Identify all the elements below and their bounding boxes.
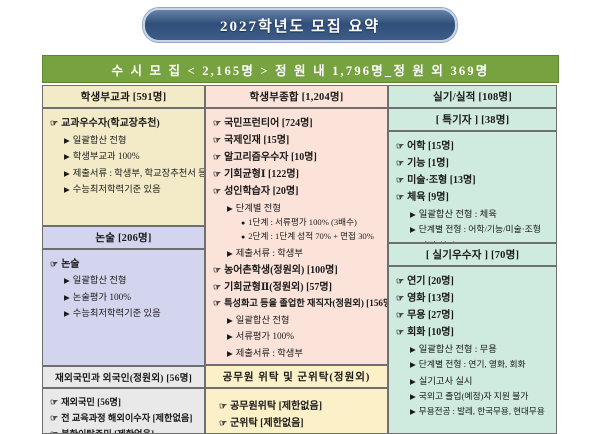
special-talent-body: ☞ 어학 [15명] ☞ 기능 [1명] ☞ 미술·조형 [13명] ☞ 체육 … xyxy=(388,131,557,243)
pointer-icon: ☞ xyxy=(213,135,221,146)
list-item-label: 학생부교과 100% xyxy=(73,148,140,162)
pointer-icon: ☞ xyxy=(396,192,404,203)
subheader-special-talent: [ 특기자 ] [38명] xyxy=(388,108,557,131)
list-item-label: 알고리즘우수자 [10명] xyxy=(224,148,317,163)
list-item: ▶ 수능최저학력기준 있음 xyxy=(64,305,199,319)
list-item-label: 무용 [27명] xyxy=(407,306,454,321)
triangle-icon: ▶ xyxy=(227,349,233,358)
pointer-icon: ☞ xyxy=(50,413,58,424)
list-item-label: 농어촌학생(정원외) [100명] xyxy=(224,261,338,276)
list-item-label: 미술·조형 [13명] xyxy=(407,171,476,186)
list-item: ▶ 일괄합산 전형 : 체육 xyxy=(410,206,551,220)
list-item-label: 기회균형Ⅱ(정원외) [57명] xyxy=(224,278,332,293)
list-item: ☞ 기회균형Ⅱ(정원외) [57명] xyxy=(213,278,382,293)
list-item-label: 성인학습자 [20명] xyxy=(224,182,298,197)
list-item: ▶ 수능최저학력기준 있음 xyxy=(64,181,199,195)
list-item-label: 군위탁 [제한없음] xyxy=(230,414,304,429)
list-item: ▶ 일괄합산 전형 xyxy=(227,312,382,326)
triangle-icon: ▶ xyxy=(410,360,416,369)
list-item: ☞ 기능 [1명] xyxy=(396,154,551,169)
list-item-label: 어학 [15명] xyxy=(407,137,454,152)
page-title: 2027학년도 모집 요약 xyxy=(220,15,380,36)
pointer-icon: ☞ xyxy=(219,418,227,429)
triangle-icon: ▶ xyxy=(410,377,416,386)
list-item-label: 단계별 전형 : 연기, 영화, 회화 xyxy=(419,357,526,370)
pointer-icon: ☞ xyxy=(213,169,221,180)
list-item: ☞ 무용 [27명] xyxy=(396,306,551,321)
list-item: ▶ 단계별 전형 : 연기, 영화, 회화 xyxy=(410,357,551,370)
list-item-label: 단계별 전형 xyxy=(236,200,281,214)
pointer-icon: ☞ xyxy=(50,259,58,270)
pointer-icon: ☞ xyxy=(213,298,221,309)
practical-excellence-body: ☞ 연기 [20명] ☞ 영화 [13명] ☞ 무용 [27명] ☞ 회화 [1… xyxy=(388,266,557,434)
list-item-label: 연기 [20명] xyxy=(407,272,454,287)
list-item-label: 국제인재 [15명] xyxy=(224,131,289,146)
pointer-icon: ☞ xyxy=(213,186,221,197)
entrusted-list: ☞ 공무원위탁 [제한없음] ☞ 군위탁 [제한없음] xyxy=(211,397,382,429)
column-header-subject-record: 학생부교과 [591명] xyxy=(42,85,205,108)
list-item: ▶ 제출서류 : 학생부, 학교장추천서 등 xyxy=(64,165,199,179)
column-header-overseas: 재외국민과 외국인(정원외) [56명] xyxy=(42,366,205,388)
triangle-icon: ▶ xyxy=(64,136,70,145)
triangle-icon: ▶ xyxy=(64,293,70,302)
list-item: ☞ 논술 xyxy=(50,255,199,270)
triangle-icon: ▶ xyxy=(64,185,70,194)
pointer-icon: ☞ xyxy=(396,141,404,152)
triangle-icon: ▶ xyxy=(227,204,233,213)
list-item: ● 2단계 : 1단계 성적 70% + 면접 30% xyxy=(241,230,382,242)
triangle-icon: ▶ xyxy=(410,392,416,401)
triangle-icon: ▶ xyxy=(410,345,416,354)
list-item-label: 수능최저학력기준 있음 xyxy=(73,181,161,195)
list-item: ☞ 회화 [10명] xyxy=(396,323,551,338)
list-item: ▶ 실기고사 실시 xyxy=(410,373,551,387)
pointer-icon: ☞ xyxy=(396,276,404,287)
list-item: ▶ 서류평가 100% xyxy=(227,328,382,342)
pointer-icon: ☞ xyxy=(50,397,58,408)
dot-icon: ● xyxy=(241,219,245,227)
essay-body: ☞ 논술 ▶ 일괄합산 전형 ▶ 논술평가 100% ▶ 수능최저학력기준 있음 xyxy=(42,249,205,367)
list-item: ☞ 체육 [9명] xyxy=(396,188,551,203)
pointer-icon: ☞ xyxy=(50,118,58,129)
list-item-label: 무용전공 : 발레, 한국무용, 현대무용 xyxy=(419,405,545,417)
pointer-icon: ☞ xyxy=(50,429,58,434)
list-item: ☞ 전 교육과정 해외이수자 [제한없음] xyxy=(50,410,199,424)
dot-icon: ● xyxy=(241,233,245,241)
pointer-icon: ☞ xyxy=(213,282,221,293)
list-item-label: 일괄합산 전형 : 무용 xyxy=(419,341,497,355)
pointer-icon: ☞ xyxy=(213,152,221,163)
list-item: ☞ 미술·조형 [13명] xyxy=(396,171,551,186)
list-item-label: 단계별 전형 : 어학/기능/미술·조형 xyxy=(419,222,541,235)
column-subject-record: 학생부교과 [591명] ☞ 교과우수자(학교장추천) ▶ 일괄합산 전형 ▶ … xyxy=(42,85,205,434)
list-item-label: 국외고 졸업(예정)자 지원 불가 xyxy=(419,389,529,402)
triangle-icon: ▶ xyxy=(410,225,416,234)
list-item-label: 회화 [10명] xyxy=(407,323,454,338)
triangle-icon: ▶ xyxy=(410,210,416,219)
column-header-comprehensive-record: 학생부종합 [1,204명] xyxy=(205,85,388,108)
list-item: ☞ 재외국민 [56명] xyxy=(50,394,199,408)
pointer-icon: ☞ xyxy=(213,118,221,129)
pointer-icon: ☞ xyxy=(396,293,404,304)
list-item: ● 1단계 : 서류평가 100% (3배수) xyxy=(241,216,382,228)
list-item: ▶ 학생부교과 100% xyxy=(64,148,199,162)
list-item-label: 제출서류 : 학생부 xyxy=(236,345,303,359)
column-practical: 실기/실적 [108명] [ 특기자 ] [38명] ☞ 어학 [15명] ☞ … xyxy=(388,85,557,434)
pointer-icon: ☞ xyxy=(396,310,404,321)
list-item-label: 일괄합산 전형 xyxy=(236,312,290,326)
list-item: ▶ 국외고 졸업(예정)자 지원 불가 xyxy=(410,389,551,402)
list-item: ▶ 단계별 전형 xyxy=(227,200,382,214)
list-item: ☞ 국제인재 [15명] xyxy=(213,131,382,146)
list-item: ☞ 성인학습자 [20명] xyxy=(213,182,382,197)
list-item-label: 기회균형Ⅰ [122명] xyxy=(224,165,299,180)
summary-band-text: 수 시 모 집 < 2,165명 > 정 원 내 1,796명_정 원 외 36… xyxy=(111,60,489,79)
list-item-label: 체육 [9명] xyxy=(407,188,449,203)
pointer-icon: ☞ xyxy=(396,175,404,186)
subject-excellence-list: ☞ 교과우수자(학교장추천) ▶ 일괄합산 전형 ▶ 학생부교과 100% ▶ … xyxy=(48,114,199,195)
list-item: ☞ 교과우수자(학교장추천) xyxy=(50,114,199,129)
list-item-label: 교과우수자(학교장추천) xyxy=(61,114,160,129)
list-item: ☞ 군위탁 [제한없음] xyxy=(219,414,382,429)
list-item: ☞ 북한이탈주민 [제한없음] xyxy=(50,426,199,434)
list-item: ☞ 농어촌학생(정원외) [100명] xyxy=(213,261,382,276)
entrusted-body: ☞ 공무원위탁 [제한없음] ☞ 군위탁 [제한없음] xyxy=(205,388,388,434)
list-item-label: 서류평가 100% xyxy=(236,328,294,342)
list-item: ▶ 단계별 전형 : 어학/기능/미술·조형 xyxy=(410,222,551,235)
list-item-label: 전 교육과정 해외이수자 [제한없음] xyxy=(61,410,192,424)
list-item-label: 일괄합산 전형 xyxy=(73,132,127,146)
list-item-label: 실기고사 실시 xyxy=(419,373,473,387)
list-item: ▶ 논술평가 100% xyxy=(64,289,199,303)
list-item-label: 제출서류 : 학생부 xyxy=(236,245,303,259)
comprehensive-body: ☞ 국민프런티어 [724명] ☞ 국제인재 [15명] ☞ 알고리즘우수자 [… xyxy=(205,108,388,365)
list-item-label: 재외국민 [56명] xyxy=(61,394,121,408)
list-item-label: 2단계 : 1단계 성적 70% + 면접 30% xyxy=(248,230,374,242)
column-comprehensive-record: 학생부종합 [1,204명] ☞ 국민프런티어 [724명] ☞ 국제인재 [1… xyxy=(205,85,388,434)
list-item-label: 영화 [13명] xyxy=(407,289,454,304)
triangle-icon: ▶ xyxy=(64,276,70,285)
pointer-icon: ☞ xyxy=(396,327,404,338)
list-item: ☞ 기회균형Ⅰ [122명] xyxy=(213,165,382,180)
triangle-icon: ▶ xyxy=(227,332,233,341)
triangle-icon: ▶ xyxy=(227,249,233,258)
triangle-icon: ▶ xyxy=(64,169,70,178)
list-item-label: 특성화고 등을 졸업한 재직자(정원외) [156명] xyxy=(224,295,388,309)
list-item: ▶ 일괄합산 전형 xyxy=(64,132,199,146)
overseas-body: ☞ 재외국민 [56명] ☞ 전 교육과정 해외이수자 [제한없음] ☞ 북한이… xyxy=(42,388,205,434)
triangle-icon: ▶ xyxy=(227,316,233,325)
column-header-practical: 실기/실적 [108명] xyxy=(388,85,557,108)
comprehensive-list: ☞ 국민프런티어 [724명] ☞ 국제인재 [15명] ☞ 알고리즘우수자 [… xyxy=(211,114,382,359)
list-item-label: 논술평가 100% xyxy=(73,289,131,303)
list-item: ▶ 제출서류 : 학생부 xyxy=(227,345,382,359)
summary-band: 수 시 모 집 < 2,165명 > 정 원 내 1,796명_정 원 외 36… xyxy=(42,55,559,83)
overseas-list: ☞ 재외국민 [56명] ☞ 전 교육과정 해외이수자 [제한없음] ☞ 북한이… xyxy=(48,394,199,434)
special-talent-list: ☞ 어학 [15명] ☞ 기능 [1명] ☞ 미술·조형 [13명] ☞ 체육 … xyxy=(394,137,551,243)
list-item: ☞ 특성화고 등을 졸업한 재직자(정원외) [156명] xyxy=(213,295,382,309)
triangle-icon: ▶ xyxy=(410,407,416,416)
list-item-label: 1단계 : 서류평가 100% (3배수) xyxy=(248,216,357,228)
list-item-label: 일괄합산 전형 : 체육 xyxy=(419,206,497,220)
list-item: ☞ 어학 [15명] xyxy=(396,137,551,152)
pointer-icon: ☞ xyxy=(219,401,227,412)
list-item: ☞ 국민프런티어 [724명] xyxy=(213,114,382,129)
list-item: ▶ 제출서류 : 학생부 xyxy=(227,245,382,259)
triangle-icon: ▶ xyxy=(64,309,70,318)
title-pill: 2027학년도 모집 요약 xyxy=(143,8,457,42)
subheader-practical-excellence: [ 실기우수자 ] [70명] xyxy=(388,243,557,266)
admissions-grid: 학생부교과 [591명] ☞ 교과우수자(학교장추천) ▶ 일괄합산 전형 ▶ … xyxy=(42,85,557,397)
list-item-label: 국민프런티어 [724명] xyxy=(224,114,313,129)
list-item-label: 북한이탈주민 [제한없음] xyxy=(61,426,154,434)
pointer-icon: ☞ xyxy=(213,265,221,276)
list-item-label: 제출서류 : 학생부, 학교장추천서 등 xyxy=(73,165,205,179)
practical-excellence-list: ☞ 연기 [20명] ☞ 영화 [13명] ☞ 무용 [27명] ☞ 회화 [1… xyxy=(394,272,551,417)
list-item: ▶ 일괄합산 전형 xyxy=(64,272,199,286)
essay-list: ☞ 논술 ▶ 일괄합산 전형 ▶ 논술평가 100% ▶ 수능최저학력기준 있음 xyxy=(48,255,199,320)
list-item-label: 기능 [1명] xyxy=(407,154,449,169)
column-header-essay: 논술 [206명] xyxy=(42,226,205,249)
list-item: ☞ 연기 [20명] xyxy=(396,272,551,287)
title-banner: 2027학년도 모집 요약 xyxy=(0,8,600,42)
pointer-icon: ☞ xyxy=(396,158,404,169)
list-item: ☞ 영화 [13명] xyxy=(396,289,551,304)
list-item-label: 논술 xyxy=(61,255,79,270)
list-item-label: 수능최저학력기준 있음 xyxy=(73,305,161,319)
subject-excellence-body: ☞ 교과우수자(학교장추천) ▶ 일괄합산 전형 ▶ 학생부교과 100% ▶ … xyxy=(42,108,205,226)
list-item: ☞ 알고리즘우수자 [10명] xyxy=(213,148,382,163)
list-item: ▶ 일괄합산 전형 : 무용 xyxy=(410,341,551,355)
column-header-entrusted: 공무원 위탁 및 군위탁(정원외) xyxy=(205,365,388,388)
triangle-icon: ▶ xyxy=(64,152,70,161)
list-item-label: 일괄합산 전형 xyxy=(73,272,127,286)
list-item: ▶ 무용전공 : 발레, 한국무용, 현대무용 xyxy=(410,405,551,417)
